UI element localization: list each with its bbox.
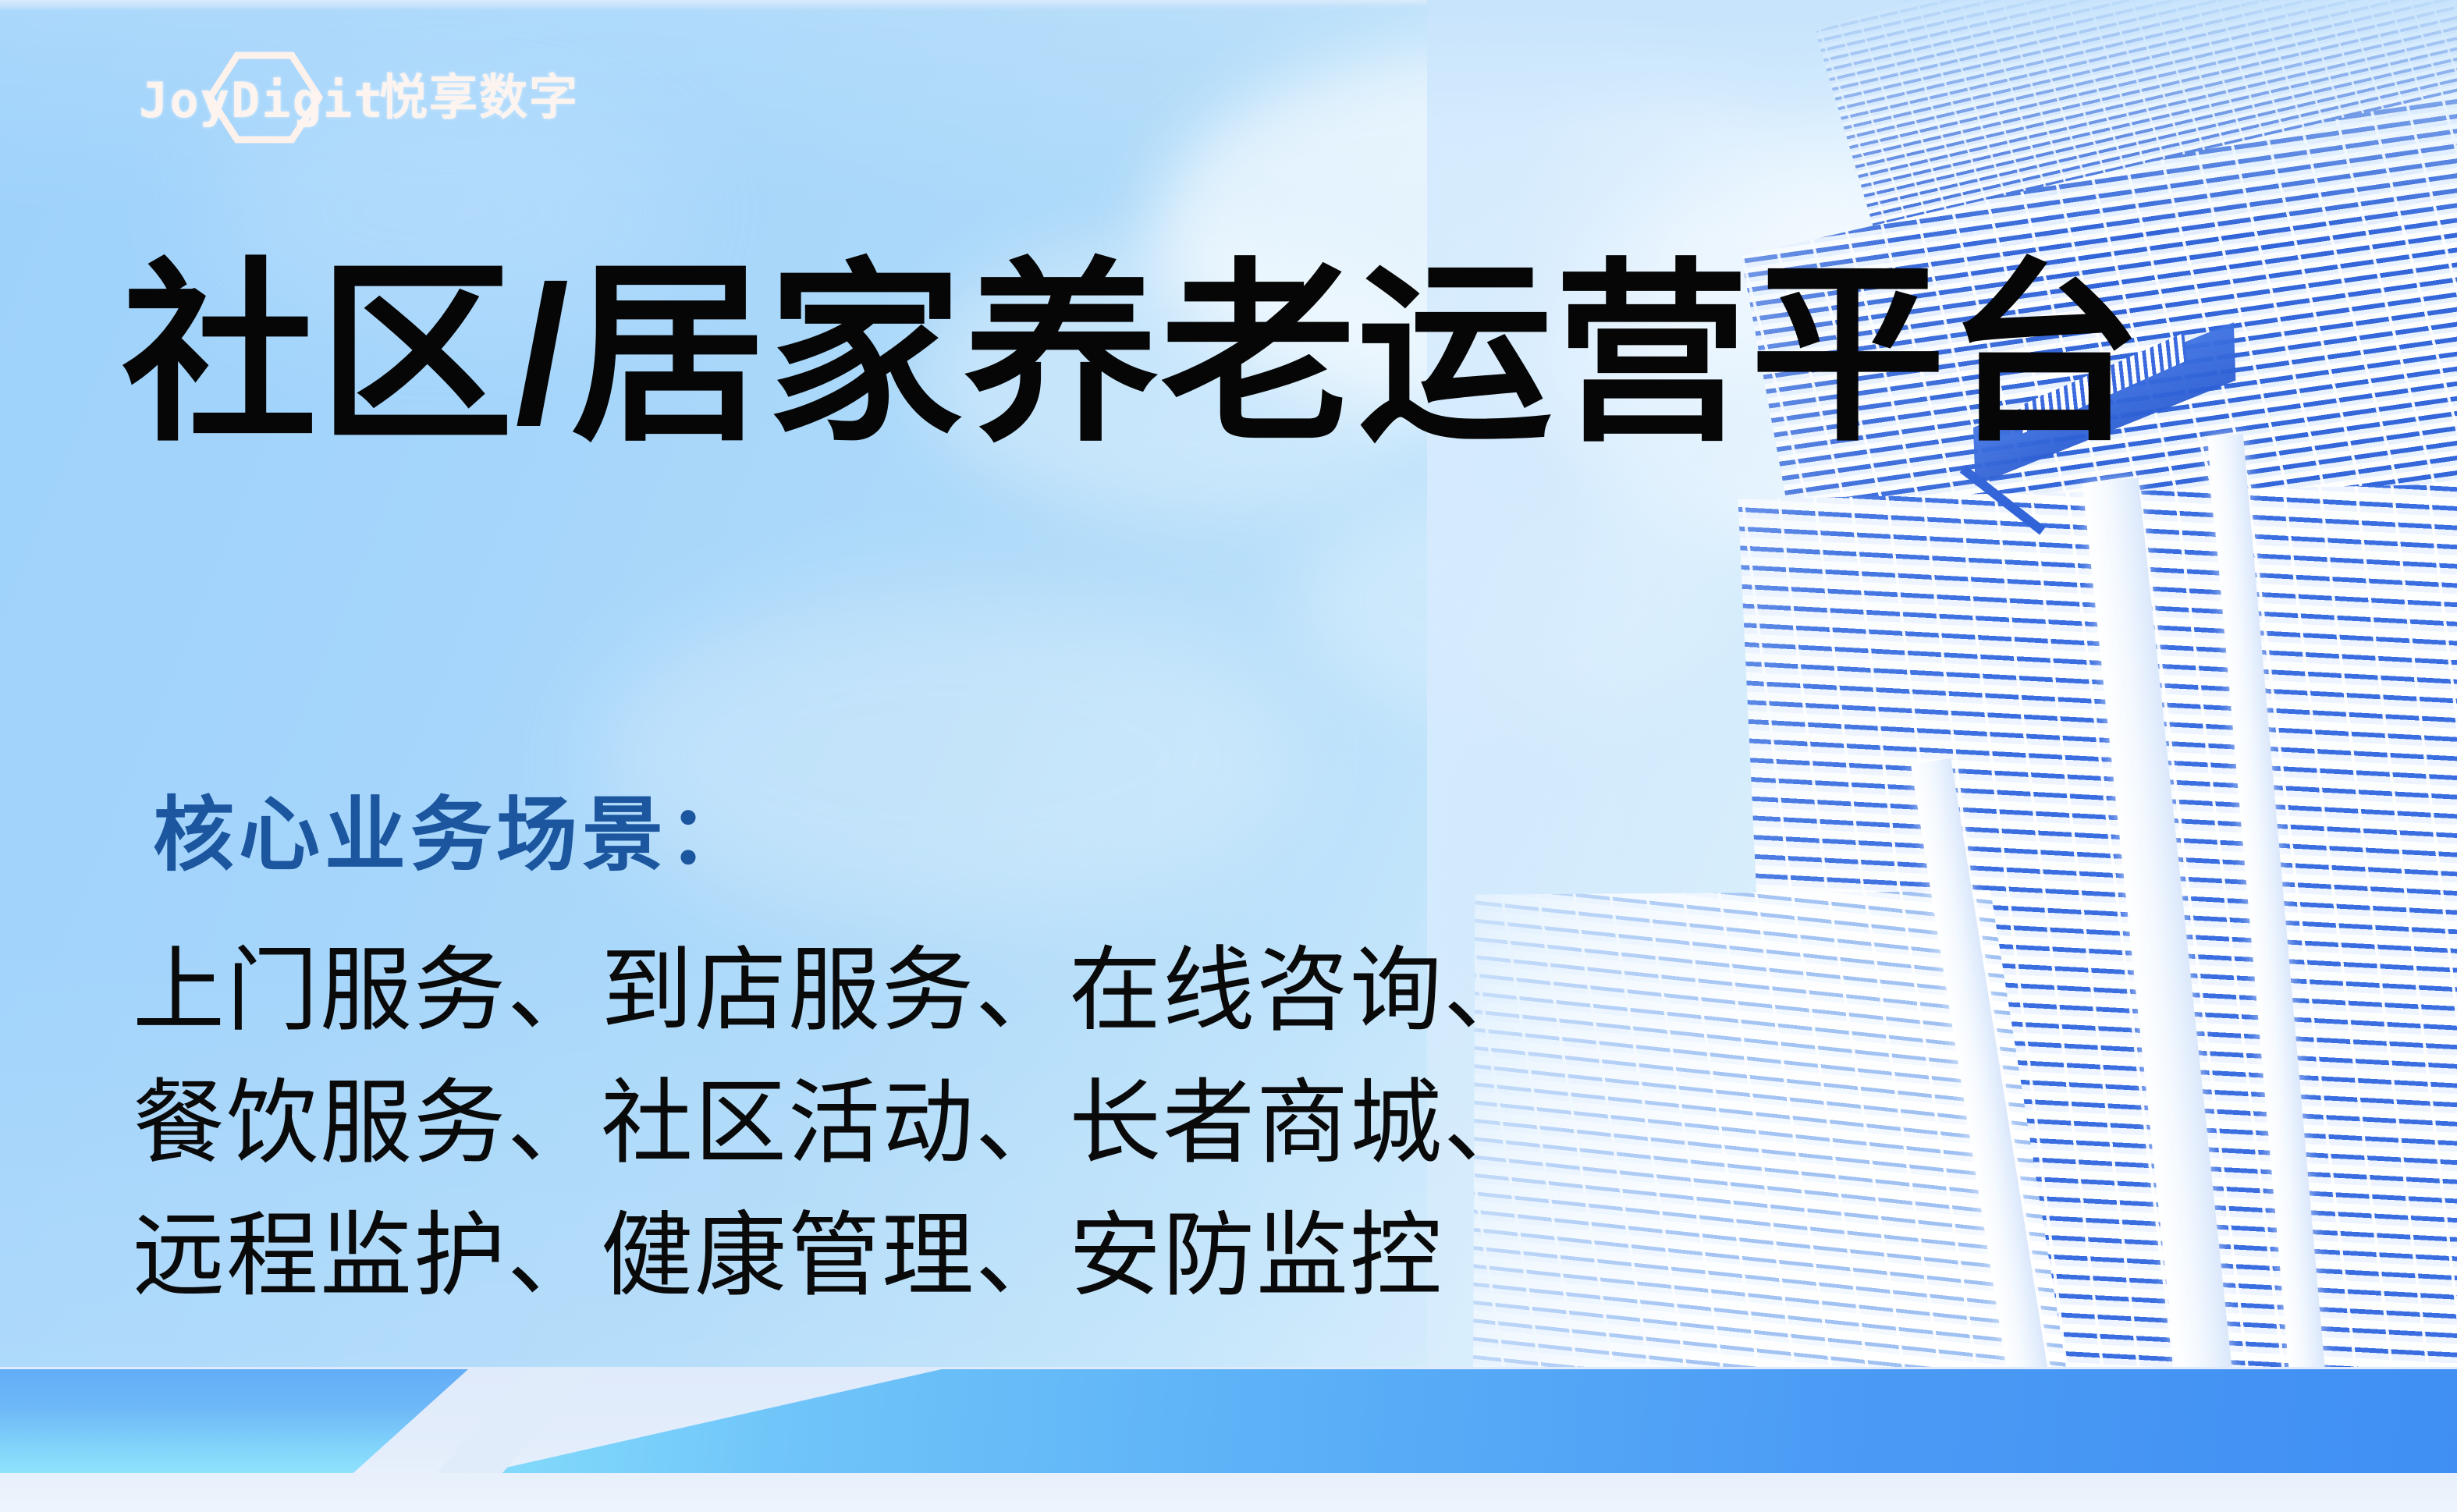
ribbon-left-shape: [0, 1369, 468, 1473]
page-title: 社区/居家养老运营平台: [122, 251, 2143, 458]
logo-wordmark: JoyDigit: [139, 76, 385, 125]
scenario-line: 远程监护、健康管理、安防监控: [133, 1190, 1537, 1322]
top-edge-highlight: [0, 0, 2457, 11]
logo-mark: JoyDigit: [139, 61, 396, 136]
section-heading: 核心业务场景：: [153, 768, 754, 886]
ribbon-right-shape: [482, 1369, 2457, 1473]
cloud-shape: [1295, 484, 1732, 718]
brand-logo[interactable]: JoyDigit 悦享数字: [139, 61, 579, 136]
scenario-line: 上门服务、到店服务、在线咨询、: [133, 925, 1537, 1057]
logo-chinese-name: 悦享数字: [379, 74, 579, 122]
core-scenario-list: 上门服务、到店服务、在线咨询、 餐饮服务、社区活动、长者商城、 远程监护、健康管…: [133, 925, 1537, 1322]
slide-canvas: JoyDigit 悦享数字 社区/居家养老运营平台 核心业务场景： 上门服务、到…: [0, 0, 2457, 1512]
bottom-ribbon: [0, 1369, 2457, 1473]
scenario-line: 餐饮服务、社区活动、长者商城、: [133, 1057, 1537, 1190]
